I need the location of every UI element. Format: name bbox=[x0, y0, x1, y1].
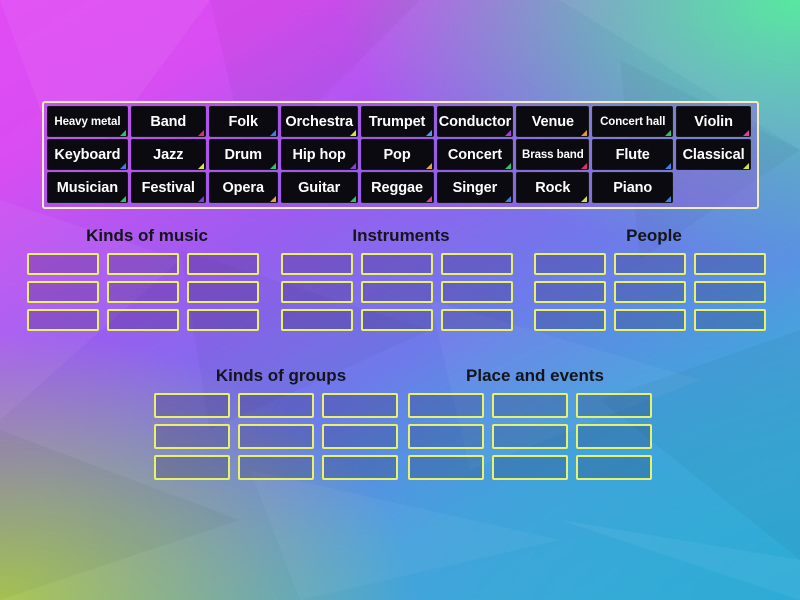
word-tile[interactable]: Violin bbox=[676, 106, 751, 137]
group-kinds-of-groups: Kinds of groups bbox=[154, 366, 408, 480]
drop-slot-row bbox=[281, 281, 521, 303]
group-title: Instruments bbox=[281, 226, 521, 246]
word-tile-label: Orchestra bbox=[285, 114, 353, 130]
word-tile-label: Piano bbox=[613, 180, 652, 196]
word-tile[interactable]: Drum bbox=[209, 139, 278, 170]
word-tile-label: Flute bbox=[616, 147, 650, 163]
drop-slot[interactable] bbox=[238, 393, 314, 418]
drop-slot[interactable] bbox=[361, 253, 433, 275]
word-tile-label: Guitar bbox=[298, 180, 340, 196]
word-tile[interactable]: Concert bbox=[437, 139, 514, 170]
tray-row: KeyboardJazzDrumHip hopPopConcertBrass b… bbox=[47, 139, 754, 172]
word-tile[interactable]: Folk bbox=[209, 106, 278, 137]
word-tile-label: Brass band bbox=[522, 149, 584, 161]
word-tile[interactable]: Festival bbox=[131, 172, 206, 203]
drop-slot[interactable] bbox=[187, 309, 259, 331]
tile-corner-marker-icon bbox=[270, 130, 276, 136]
drop-slot[interactable] bbox=[694, 253, 766, 275]
tile-corner-marker-icon bbox=[426, 163, 432, 169]
word-tile[interactable]: Pop bbox=[361, 139, 434, 170]
word-tile[interactable]: Musician bbox=[47, 172, 128, 203]
tile-corner-marker-icon bbox=[665, 163, 671, 169]
drop-slot-grid bbox=[534, 253, 774, 331]
tile-corner-marker-icon bbox=[270, 163, 276, 169]
drop-slot[interactable] bbox=[441, 253, 513, 275]
drop-slot[interactable] bbox=[576, 424, 652, 449]
group-place-and-events: Place and events bbox=[408, 366, 662, 480]
drop-slot-row bbox=[534, 281, 774, 303]
word-tile[interactable]: Band bbox=[131, 106, 206, 137]
drop-slot-row bbox=[534, 253, 774, 275]
word-tile-label: Conductor bbox=[439, 114, 511, 130]
word-tile[interactable]: Orchestra bbox=[281, 106, 358, 137]
drop-slot-grid bbox=[281, 253, 521, 331]
drop-slot[interactable] bbox=[492, 393, 568, 418]
drop-slot-row bbox=[534, 309, 774, 331]
tile-corner-marker-icon bbox=[505, 196, 511, 202]
word-tile-label: Reggae bbox=[371, 180, 423, 196]
drop-slot[interactable] bbox=[322, 393, 398, 418]
drop-slot-grid bbox=[408, 393, 662, 480]
drop-slot[interactable] bbox=[322, 424, 398, 449]
drop-slot[interactable] bbox=[441, 281, 513, 303]
drop-slot[interactable] bbox=[408, 393, 484, 418]
word-tile-label: Festival bbox=[142, 180, 195, 196]
drop-slot-grid bbox=[27, 253, 267, 331]
drop-slot[interactable] bbox=[238, 424, 314, 449]
drop-slot-row bbox=[281, 253, 521, 275]
drop-slot-row bbox=[408, 393, 662, 418]
word-tile-label: Trumpet bbox=[369, 114, 426, 130]
word-tile[interactable]: Reggae bbox=[361, 172, 434, 203]
tray-row: MusicianFestivalOperaGuitarReggaeSingerR… bbox=[47, 172, 754, 205]
drop-slot-row bbox=[27, 253, 267, 275]
tile-corner-marker-icon bbox=[743, 163, 749, 169]
word-tile-label: Pop bbox=[383, 147, 410, 163]
tile-corner-marker-icon bbox=[270, 196, 276, 202]
drop-slot[interactable] bbox=[361, 309, 433, 331]
tray-row: Heavy metalBandFolkOrchestraTrumpetCondu… bbox=[47, 106, 754, 139]
drop-slot[interactable] bbox=[238, 455, 314, 480]
tile-corner-marker-icon bbox=[350, 130, 356, 136]
word-tile[interactable]: Guitar bbox=[281, 172, 358, 203]
drop-slot[interactable] bbox=[187, 281, 259, 303]
word-tile-tray: Heavy metalBandFolkOrchestraTrumpetCondu… bbox=[42, 101, 759, 209]
drop-slot[interactable] bbox=[361, 281, 433, 303]
drop-slot[interactable] bbox=[614, 281, 686, 303]
drop-slot[interactable] bbox=[492, 455, 568, 480]
drop-slot[interactable] bbox=[187, 253, 259, 275]
drop-slot[interactable] bbox=[281, 309, 353, 331]
drop-slot[interactable] bbox=[576, 393, 652, 418]
group-title: Place and events bbox=[408, 366, 662, 386]
word-tile[interactable]: Hip hop bbox=[281, 139, 358, 170]
drop-slot[interactable] bbox=[154, 424, 230, 449]
tile-corner-marker-icon bbox=[350, 196, 356, 202]
tile-corner-marker-icon bbox=[120, 163, 126, 169]
drop-slot-row bbox=[154, 455, 408, 480]
drop-slot-row bbox=[27, 281, 267, 303]
drop-slot[interactable] bbox=[492, 424, 568, 449]
word-tile[interactable]: Flute bbox=[592, 139, 673, 170]
word-tile-label: Venue bbox=[532, 114, 574, 130]
drop-slot[interactable] bbox=[614, 309, 686, 331]
word-tile[interactable]: Heavy metal bbox=[47, 106, 128, 137]
word-tile[interactable]: Concert hall bbox=[592, 106, 673, 137]
tile-corner-marker-icon bbox=[581, 130, 587, 136]
word-tile-label: Opera bbox=[223, 180, 264, 196]
word-tile-label: Drum bbox=[224, 147, 261, 163]
drop-slot[interactable] bbox=[614, 253, 686, 275]
word-tile-label: Keyboard bbox=[54, 147, 120, 163]
activity-stage: Heavy metalBandFolkOrchestraTrumpetCondu… bbox=[0, 0, 800, 600]
empty-tile-slot bbox=[676, 172, 751, 203]
drop-slot-row bbox=[27, 309, 267, 331]
tile-corner-marker-icon bbox=[350, 163, 356, 169]
drop-slot-row bbox=[281, 309, 521, 331]
tile-corner-marker-icon bbox=[120, 130, 126, 136]
word-tile-label: Concert bbox=[448, 147, 502, 163]
drop-slot-row bbox=[154, 393, 408, 418]
drop-slot[interactable] bbox=[107, 281, 179, 303]
group-instruments: Instruments bbox=[281, 226, 521, 331]
word-tile[interactable]: Conductor bbox=[437, 106, 514, 137]
tile-corner-marker-icon bbox=[505, 130, 511, 136]
word-tile-label: Rock bbox=[535, 180, 570, 196]
drop-slot[interactable] bbox=[107, 309, 179, 331]
tile-corner-marker-icon bbox=[198, 196, 204, 202]
tile-corner-marker-icon bbox=[426, 130, 432, 136]
drop-slot-grid bbox=[154, 393, 408, 480]
group-title: People bbox=[534, 226, 774, 246]
word-tile[interactable]: Rock bbox=[516, 172, 589, 203]
word-tile-label: Singer bbox=[453, 180, 498, 196]
group-title: Kinds of groups bbox=[154, 366, 408, 386]
drop-slot[interactable] bbox=[408, 424, 484, 449]
drop-slot[interactable] bbox=[154, 393, 230, 418]
drop-slot[interactable] bbox=[534, 281, 606, 303]
drop-slot[interactable] bbox=[534, 253, 606, 275]
word-tile[interactable]: Brass band bbox=[516, 139, 589, 170]
drop-slot[interactable] bbox=[154, 455, 230, 480]
group-people: People bbox=[534, 226, 774, 331]
tile-corner-marker-icon bbox=[665, 130, 671, 136]
drop-slot-row bbox=[408, 424, 662, 449]
drop-slot[interactable] bbox=[322, 455, 398, 480]
tile-corner-marker-icon bbox=[581, 163, 587, 169]
drop-slot[interactable] bbox=[694, 309, 766, 331]
word-tile[interactable]: Opera bbox=[209, 172, 278, 203]
drop-slot-row bbox=[154, 424, 408, 449]
group-title: Kinds of music bbox=[27, 226, 267, 246]
word-tile-label: Folk bbox=[229, 114, 258, 130]
tile-corner-marker-icon bbox=[743, 130, 749, 136]
tile-corner-marker-icon bbox=[198, 163, 204, 169]
group-kinds-of-music: Kinds of music bbox=[27, 226, 267, 331]
word-tile-label: Classical bbox=[683, 147, 745, 163]
drop-slot-row bbox=[408, 455, 662, 480]
drop-slot[interactable] bbox=[27, 309, 99, 331]
tile-corner-marker-icon bbox=[426, 196, 432, 202]
word-tile[interactable]: Classical bbox=[676, 139, 751, 170]
drop-slot[interactable] bbox=[576, 455, 652, 480]
word-tile[interactable]: Piano bbox=[592, 172, 673, 203]
word-tile-label: Band bbox=[150, 114, 186, 130]
drop-slot[interactable] bbox=[694, 281, 766, 303]
word-tile-label: Jazz bbox=[153, 147, 183, 163]
word-tile[interactable]: Jazz bbox=[131, 139, 206, 170]
word-tile-label: Hip hop bbox=[293, 147, 346, 163]
drop-slot[interactable] bbox=[27, 281, 99, 303]
word-tile-label: Heavy metal bbox=[54, 116, 120, 128]
word-tile[interactable]: Trumpet bbox=[361, 106, 434, 137]
drop-slot[interactable] bbox=[408, 455, 484, 480]
drop-slot[interactable] bbox=[281, 253, 353, 275]
tile-corner-marker-icon bbox=[120, 196, 126, 202]
drop-slot[interactable] bbox=[534, 309, 606, 331]
drop-slot[interactable] bbox=[107, 253, 179, 275]
word-tile-label: Violin bbox=[694, 114, 733, 130]
drop-slot[interactable] bbox=[281, 281, 353, 303]
word-tile[interactable]: Singer bbox=[437, 172, 514, 203]
word-tile[interactable]: Keyboard bbox=[47, 139, 128, 170]
drop-slot[interactable] bbox=[27, 253, 99, 275]
tile-corner-marker-icon bbox=[581, 196, 587, 202]
word-tile-label: Concert hall bbox=[600, 116, 665, 128]
word-tile[interactable]: Venue bbox=[516, 106, 589, 137]
word-tile-label: Musician bbox=[57, 180, 118, 196]
tile-corner-marker-icon bbox=[505, 163, 511, 169]
drop-slot[interactable] bbox=[441, 309, 513, 331]
tile-corner-marker-icon bbox=[665, 196, 671, 202]
tile-corner-marker-icon bbox=[198, 130, 204, 136]
